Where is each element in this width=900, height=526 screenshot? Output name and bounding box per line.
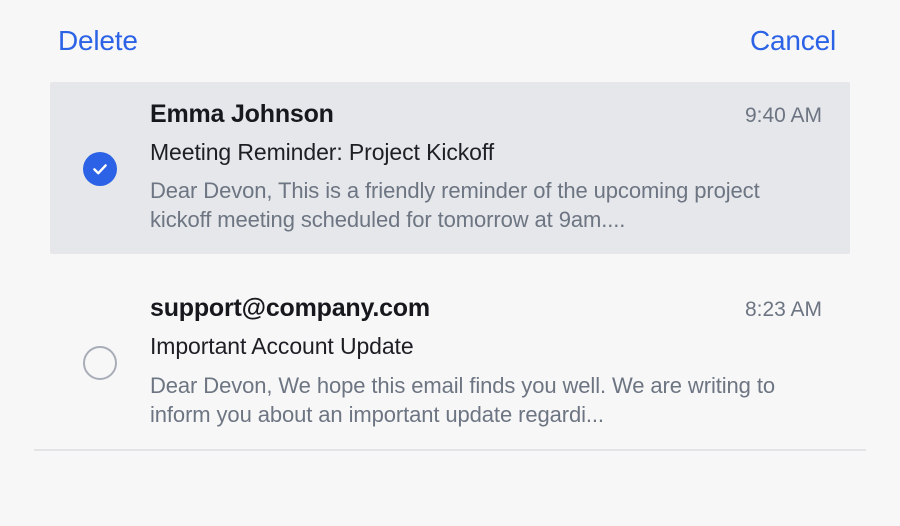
mail-preview: Dear Devon, This is a friendly reminder …	[150, 176, 822, 234]
circle-outline-icon[interactable]	[83, 346, 117, 380]
checkbox-column	[50, 295, 150, 428]
mail-sender: Emma Johnson	[150, 101, 334, 128]
mail-list-item[interactable]: support@company.com 8:23 AM Important Ac…	[50, 276, 850, 448]
mail-timestamp: 9:40 AM	[745, 104, 822, 127]
cancel-button[interactable]: Cancel	[750, 27, 836, 55]
mail-preview: Dear Devon, We hope this email finds you…	[150, 371, 822, 429]
mail-sender: support@company.com	[150, 295, 430, 322]
mail-item-content: Emma Johnson 9:40 AM Meeting Reminder: P…	[150, 101, 850, 234]
delete-button[interactable]: Delete	[58, 27, 138, 55]
mail-subject: Important Account Update	[150, 334, 822, 359]
mail-timestamp: 8:23 AM	[745, 298, 822, 321]
mail-item-header: Emma Johnson 9:40 AM	[150, 101, 822, 128]
checkmark-glyph	[91, 160, 109, 178]
selection-toolbar: Delete Cancel	[0, 0, 900, 82]
mail-selection-screen: Delete Cancel Emma Johnson 9:40 AM Meeti…	[0, 0, 900, 526]
mail-list: Emma Johnson 9:40 AM Meeting Reminder: P…	[0, 82, 900, 451]
mail-item-header: support@company.com 8:23 AM	[150, 295, 822, 322]
list-spacer	[0, 254, 900, 276]
mail-item-content: support@company.com 8:23 AM Important Ac…	[150, 295, 850, 428]
checkbox-column	[50, 101, 150, 234]
mail-list-item[interactable]: Emma Johnson 9:40 AM Meeting Reminder: P…	[50, 82, 850, 254]
check-circle-filled-icon[interactable]	[83, 152, 117, 186]
mail-subject: Meeting Reminder: Project Kickoff	[150, 140, 822, 165]
list-divider	[34, 449, 866, 451]
